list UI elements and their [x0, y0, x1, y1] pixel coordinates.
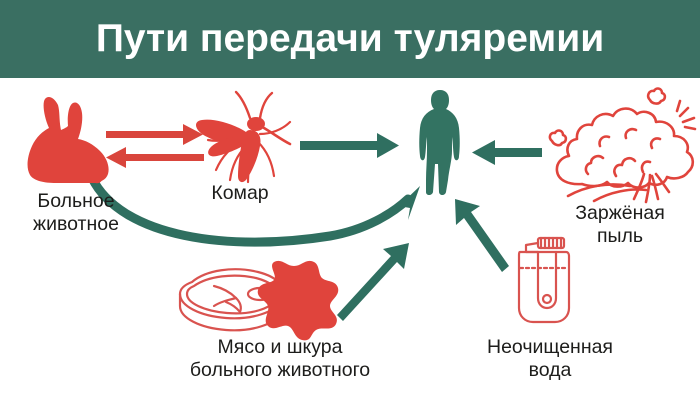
mosquito-icon — [190, 88, 300, 188]
animal-hide-icon — [256, 256, 342, 342]
label-sick-animal: Больное животное — [2, 190, 150, 236]
arrow-mosquito-to-human — [300, 133, 399, 158]
arrow-water-to-human — [455, 199, 509, 272]
label-mosquito: Комар — [185, 182, 295, 205]
person-icon — [408, 88, 472, 198]
infographic-canvas: Пути передачи туляремии — [0, 0, 700, 400]
rabbit-icon — [24, 95, 114, 195]
label-unpurified-water: Неочищенная вода — [455, 336, 645, 382]
label-dust: Заржёная пыль — [540, 202, 700, 248]
water-canister-icon — [508, 236, 578, 330]
label-meat-and-hide: Мясо и шкура больного животного — [140, 336, 420, 382]
dust-cloud-icon — [538, 86, 698, 204]
arrow-dust-to-human — [472, 140, 542, 165]
arrow-meat-to-human — [337, 243, 409, 321]
arrow-animal-to-mosquito — [106, 124, 203, 145]
page-title: Пути передачи туляремии — [96, 17, 604, 61]
title-banner: Пути передачи туляремии — [0, 0, 700, 78]
